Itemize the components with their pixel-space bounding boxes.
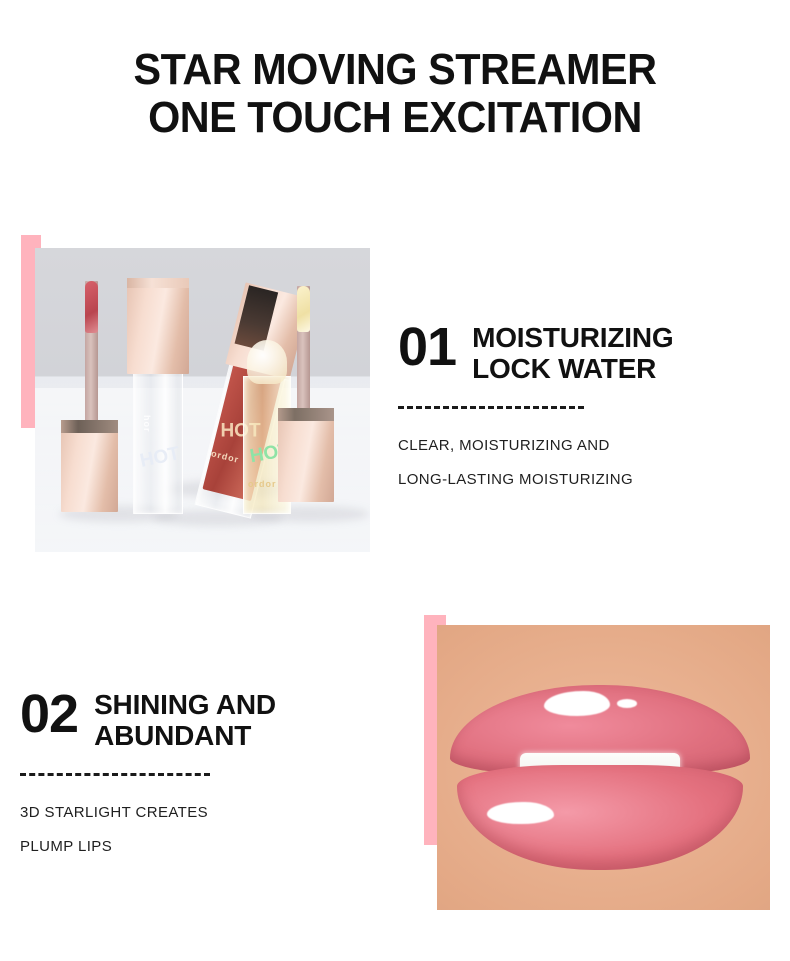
wand-tip-yellow (297, 286, 310, 332)
lipgloss-tube-clear: hor HOT (133, 366, 183, 514)
base-opening-2 (278, 408, 334, 421)
brand-mark-3: ordor (248, 479, 277, 489)
lips-photo-scene (437, 625, 770, 910)
gloss-highlight-lower (487, 802, 554, 825)
feature-02-number: 02 (20, 685, 78, 743)
feature-02-title: SHINING AND ABUNDANT (94, 685, 276, 751)
feature-block-01: 01 MOISTURIZING LOCK WATER CLEAR, MOISTU… (398, 318, 783, 497)
feature-01-title-line-1: MOISTURIZING (472, 322, 673, 353)
feature-02-divider (20, 773, 210, 776)
feature-02-desc-line-2: PLUMP LIPS (20, 830, 405, 864)
lipgloss-base-1 (61, 420, 118, 512)
page-title: STAR MOVING STREAMER ONE TOUCH EXCITATIO… (24, 46, 767, 142)
base-opening-1 (61, 420, 118, 433)
product-photo-scene: hor HOT HOT ordor HOT ordor (35, 248, 370, 552)
product-photo: hor HOT HOT ordor HOT ordor (35, 248, 370, 552)
lipgloss-base-2 (278, 408, 334, 502)
promo-page: STAR MOVING STREAMER ONE TOUCH EXCITATIO… (0, 0, 790, 961)
lipgloss-wand-red (85, 281, 98, 426)
lipgloss-applicator-dome (247, 340, 287, 384)
lipgloss-wand-yellow (297, 286, 310, 414)
feature-01-title-line-2: LOCK WATER (472, 353, 673, 384)
feature-02-head: 02 SHINING AND ABUNDANT (20, 685, 405, 751)
feature-01-desc-line-1: CLEAR, MOISTURIZING AND (398, 429, 783, 463)
feature-block-02: 02 SHINING AND ABUNDANT 3D STARLIGHT CRE… (20, 685, 405, 864)
feature-02-title-line-1: SHINING AND (94, 689, 276, 720)
feature-01-description: CLEAR, MOISTURIZING AND LONG-LASTING MOI… (398, 429, 783, 497)
headline-line-1: STAR MOVING STREAMER (134, 45, 657, 94)
feature-01-divider (398, 406, 584, 409)
feature-02-title-line-2: ABUNDANT (94, 720, 276, 751)
brand-mark-vertical-1: hor (142, 415, 152, 433)
feature-01-desc-line-2: LONG-LASTING MOISTURIZING (398, 463, 783, 497)
hot-logo-1: HOT (138, 443, 182, 473)
feature-02-desc-line-1: 3D STARLIGHT CREATES (20, 796, 405, 830)
wand-tip-red (85, 281, 98, 333)
feature-01-number: 01 (398, 318, 456, 376)
lips-photo (437, 625, 770, 910)
cap-top-1 (127, 278, 189, 288)
feature-01-title: MOISTURIZING LOCK WATER (472, 318, 673, 384)
headline-line-2: ONE TOUCH EXCITATION (24, 94, 767, 142)
feature-01-head: 01 MOISTURIZING LOCK WATER (398, 318, 783, 384)
lipgloss-cap-1 (127, 278, 189, 374)
gloss-highlight-small (617, 699, 637, 708)
feature-02-description: 3D STARLIGHT CREATES PLUMP LIPS (20, 796, 405, 864)
